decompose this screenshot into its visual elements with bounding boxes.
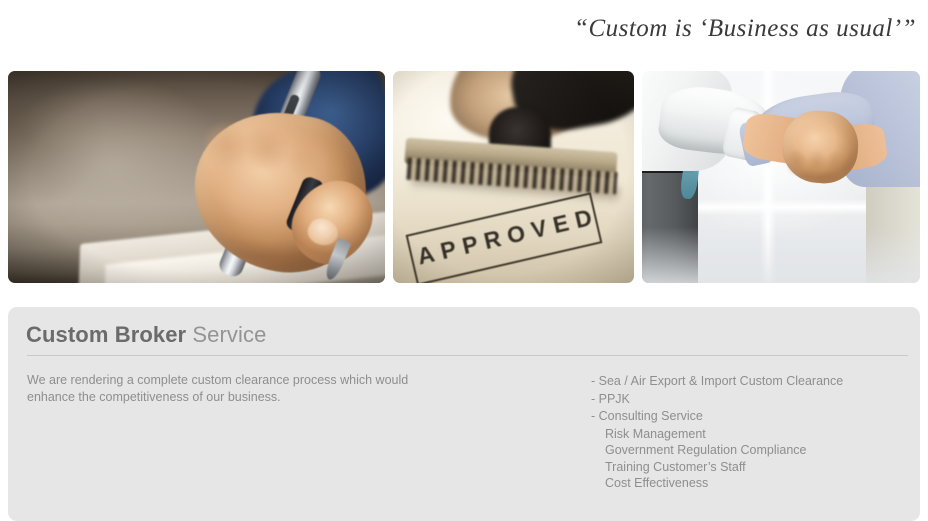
list-item: Training Customer’s Staff [591, 459, 911, 476]
business-handshake-photo [642, 71, 920, 283]
hand-writing-with-pen-photo [8, 71, 385, 283]
approved-stamp-photo: APPROVED [393, 71, 634, 283]
list-item: Risk Management [591, 426, 911, 443]
page-title-strong: Custom Broker [26, 322, 186, 347]
photo3-floor-reflection [642, 227, 920, 283]
photo1-vignette [8, 71, 385, 283]
photo-gallery: APPROVED [8, 71, 920, 283]
page-title: Custom Broker Service [26, 320, 266, 350]
list-item: Government Regulation Compliance [591, 442, 911, 459]
list-item: - Sea / Air Export & Import Custom Clear… [591, 373, 911, 391]
photo2-vignette [393, 71, 634, 283]
service-list: - Sea / Air Export & Import Custom Clear… [591, 373, 911, 492]
service-panel: Custom Broker Service We are rendering a… [8, 307, 920, 521]
page-title-light: Service [192, 322, 266, 347]
list-item: Cost Effectiveness [591, 475, 911, 492]
photo3-fingers [785, 147, 853, 182]
service-description: We are rendering a complete custom clear… [27, 372, 447, 406]
list-item: - Consulting Service [591, 408, 911, 426]
title-divider [27, 355, 908, 356]
list-item: - PPJK [591, 391, 911, 409]
header-quote: “Custom is ‘Business as usual’” [574, 14, 916, 44]
